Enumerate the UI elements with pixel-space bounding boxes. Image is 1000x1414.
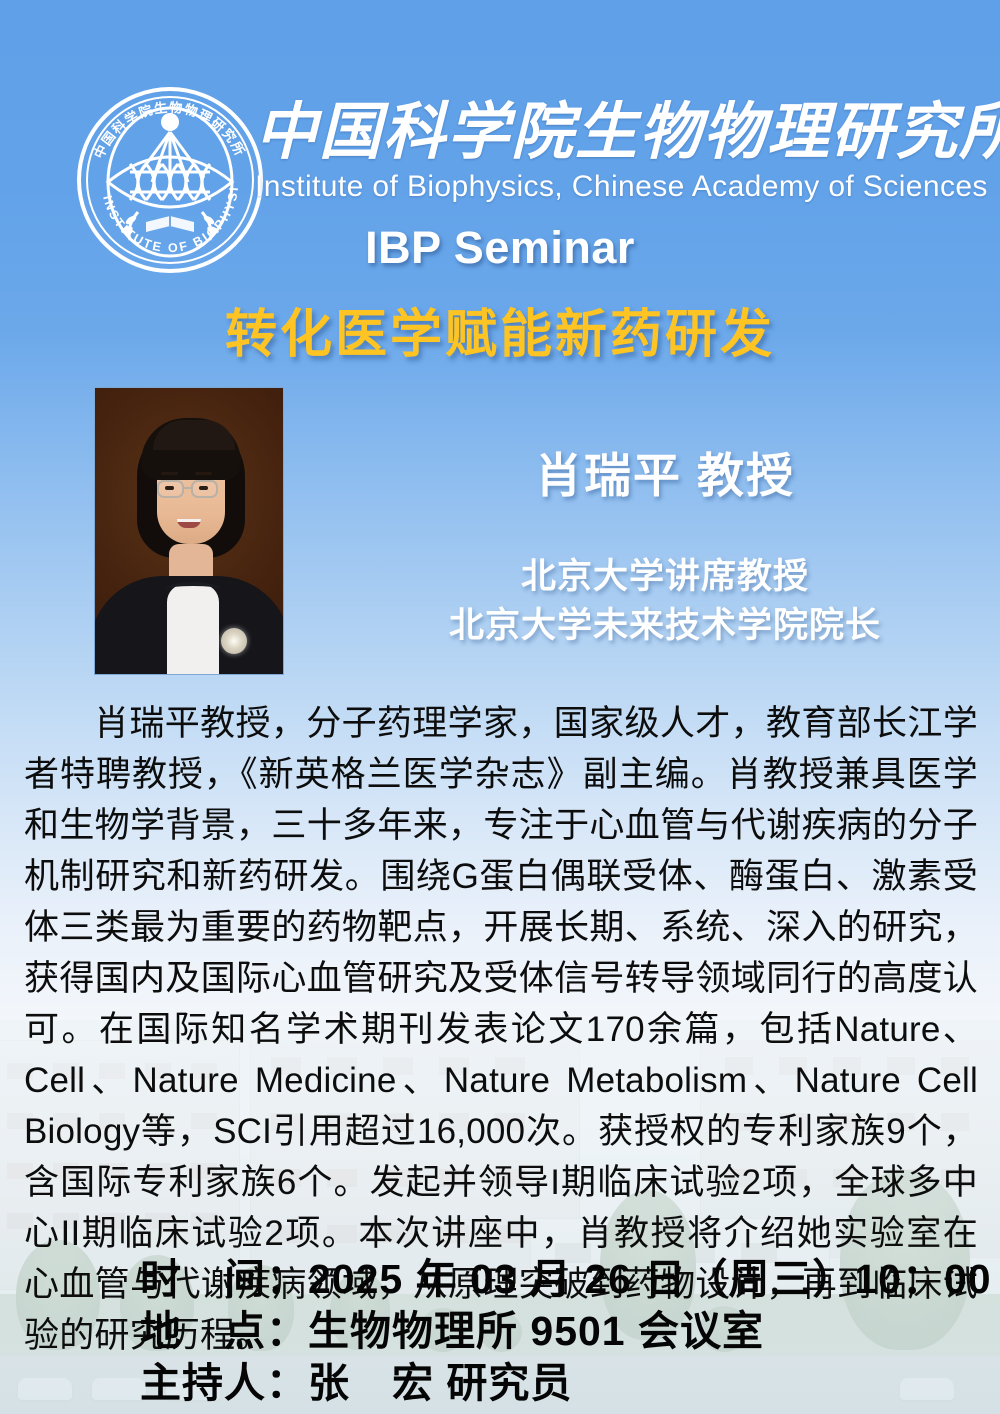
seminar-poster: 中国科学院生物物理研究所 INSTITUTE OF BIOPHYSICS 中国科… bbox=[0, 0, 1000, 1414]
speaker-affiliation-2: 北京大学未来技术学院院长 bbox=[370, 597, 960, 648]
seminar-logistics: 时 间：2025 年 03 月 26 日（周三）10：00 地 点：生物物理所 … bbox=[140, 1253, 960, 1409]
institute-name-cn: 中国科学院生物物理研究所 bbox=[255, 96, 955, 168]
portrait-brooch bbox=[221, 628, 247, 654]
portrait-collar bbox=[165, 582, 221, 598]
institute-name-en: Institute of Biophysics, Chinese Academy… bbox=[255, 170, 955, 204]
portrait-eyeglass-bridge bbox=[184, 487, 191, 489]
seminar-label: IBP Seminar bbox=[0, 222, 1000, 274]
portrait-eyebrow-left bbox=[161, 472, 178, 475]
poster-header: 中国科学院生物物理研究所 INSTITUTE OF BIOPHYSICS 中国科… bbox=[0, 0, 1000, 215]
speaker-portrait bbox=[94, 387, 284, 675]
seminar-host: 主持人：张 宏 研究员 bbox=[140, 1357, 960, 1409]
portrait-eye-right bbox=[199, 486, 208, 490]
speaker-name: 肖瑞平 教授 bbox=[370, 437, 960, 506]
speaker-affiliation-1: 北京大学讲席教授 bbox=[370, 548, 960, 599]
portrait-eye-left bbox=[165, 486, 174, 490]
portrait-eyebrow-right bbox=[195, 472, 212, 475]
seminar-venue: 地 点：生物物理所 9501 会议室 bbox=[140, 1305, 960, 1357]
talk-title: 转化医学赋能新药研发 bbox=[0, 292, 1000, 367]
seminar-time: 时 间：2025 年 03 月 26 日（周三）10：00 bbox=[140, 1253, 960, 1305]
